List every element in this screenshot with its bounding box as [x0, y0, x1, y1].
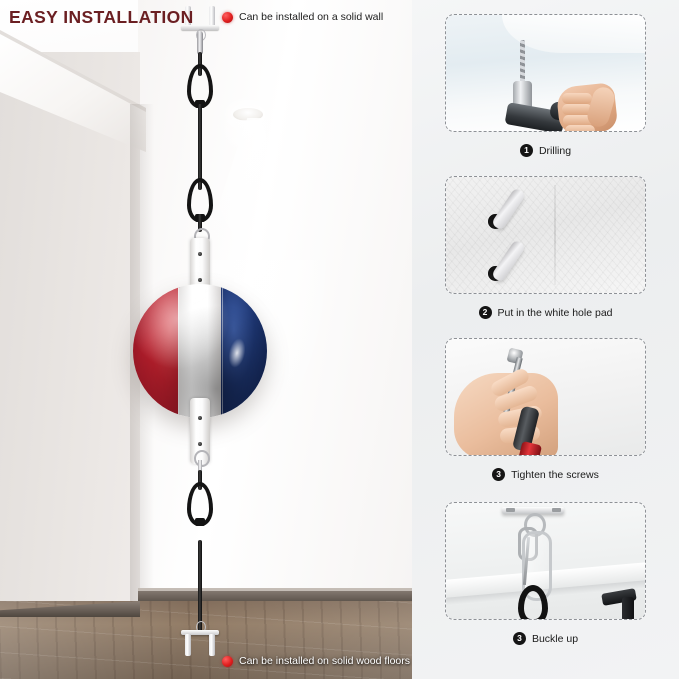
infographic-root: EASY INSTALLATION Can be installed on a …: [0, 0, 679, 679]
carabiner-buckle-photo: [445, 502, 646, 620]
step-number-badge: 3: [492, 468, 505, 481]
bungee-cord-segment: [198, 540, 202, 632]
step-label: Buckle up: [532, 633, 578, 645]
callout-label: Can be installed on solid wood floors: [239, 655, 410, 667]
screw-icon: [552, 508, 561, 512]
rivet-icon: [198, 278, 202, 282]
step-2-caption: 2 Put in the white hole pad: [412, 306, 679, 319]
step-label: Tighten the screws: [511, 469, 599, 481]
step-number-badge: 3: [513, 632, 526, 645]
red-dot-bullet-icon: [222, 656, 233, 667]
finger: [562, 93, 592, 104]
rivet-icon: [198, 416, 202, 420]
white-wall-anchors-photo: [445, 176, 646, 294]
installation-steps-panel: 1 Drilling 2 Put in the white hole pad: [412, 0, 679, 679]
wall-seam: [554, 185, 556, 285]
drill-bit-icon: [520, 40, 525, 84]
rivet-icon: [198, 442, 202, 446]
step-1-caption: 1 Drilling: [412, 144, 679, 157]
callout-solid-wall: Can be installed on a solid wall: [222, 11, 383, 23]
hanging-assembly: [0, 0, 412, 679]
red-dot-bullet-icon: [222, 12, 233, 23]
black-clamp-arm: [622, 597, 634, 620]
finger: [565, 125, 595, 132]
screwdriver-tightening-photo: [445, 338, 646, 456]
drill-into-ceiling-photo: [445, 14, 646, 132]
screw-icon: [209, 6, 215, 27]
bungee-loop: [518, 585, 548, 620]
screw-icon: [185, 634, 191, 656]
product-scene: EASY INSTALLATION Can be installed on a …: [0, 0, 412, 679]
step-number-badge: 2: [479, 306, 492, 319]
floor-anchor-plate: [181, 630, 219, 660]
callout-wood-floor: Can be installed on solid wood floors: [222, 655, 410, 667]
rivet-icon: [198, 252, 202, 256]
screw-icon: [506, 508, 515, 512]
bungee-loop: [187, 482, 213, 526]
photo-background: [446, 177, 645, 293]
screw-icon: [209, 634, 215, 656]
step-label: Drilling: [539, 145, 571, 157]
step-3-caption: 3 Tighten the screws: [412, 468, 679, 481]
page-title: EASY INSTALLATION: [9, 7, 194, 28]
step-number-badge: 1: [520, 144, 533, 157]
step-label: Put in the white hole pad: [498, 307, 613, 319]
step-4-caption: 3 Buckle up: [412, 632, 679, 645]
bungee-loop: [187, 64, 213, 108]
callout-label: Can be installed on a solid wall: [239, 11, 383, 23]
